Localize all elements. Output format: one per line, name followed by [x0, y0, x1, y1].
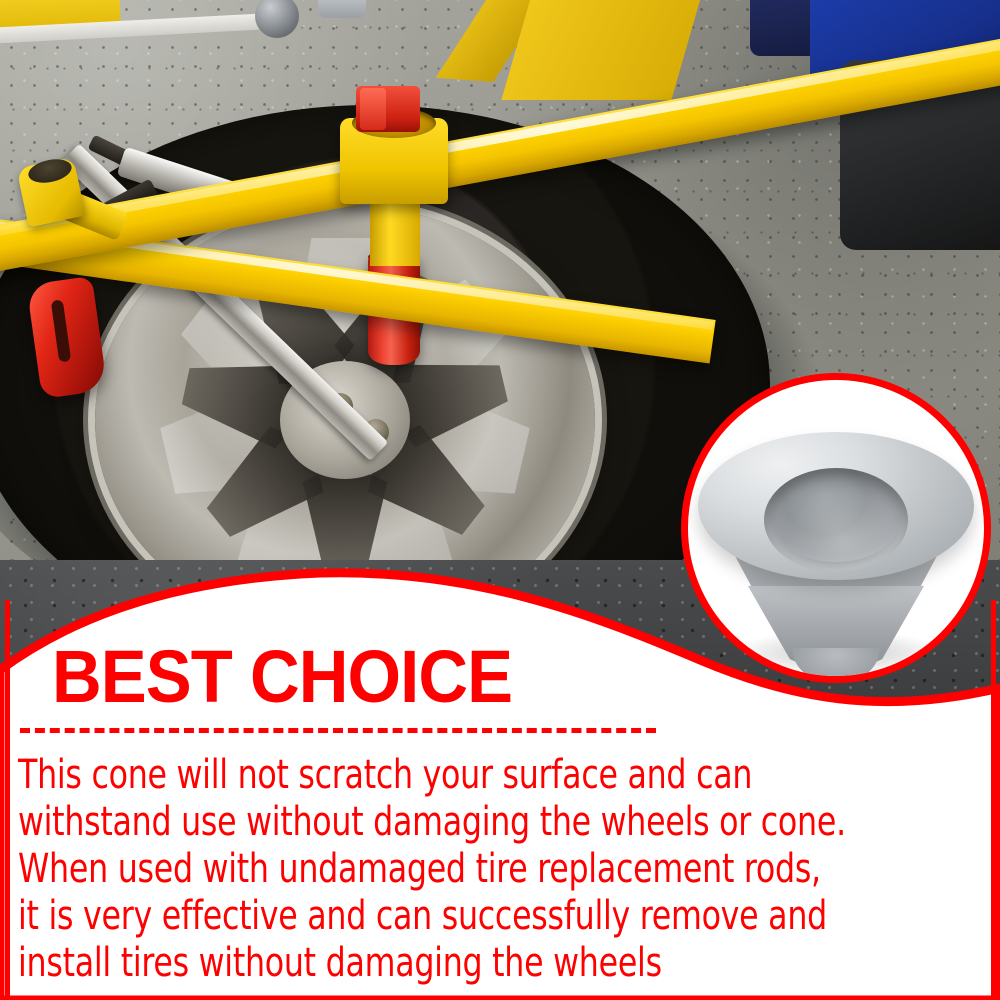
page-title: BEST CHOICE	[52, 640, 512, 714]
collar-stem	[370, 196, 420, 266]
text-panel: BEST CHOICE This cone will not scratch y…	[0, 630, 1000, 1000]
product-banner: BEST CHOICE This cone will not scratch y…	[0, 0, 1000, 1000]
red-clamp-highlight	[360, 88, 386, 130]
cone-bore-highlight	[772, 476, 900, 562]
description-text: This cone will not scratch your surface …	[18, 752, 868, 987]
left-red-rule	[5, 600, 10, 1000]
right-red-rule	[991, 600, 996, 1000]
cabinet-caster-bracket	[318, 0, 366, 18]
dashed-divider	[20, 728, 656, 733]
